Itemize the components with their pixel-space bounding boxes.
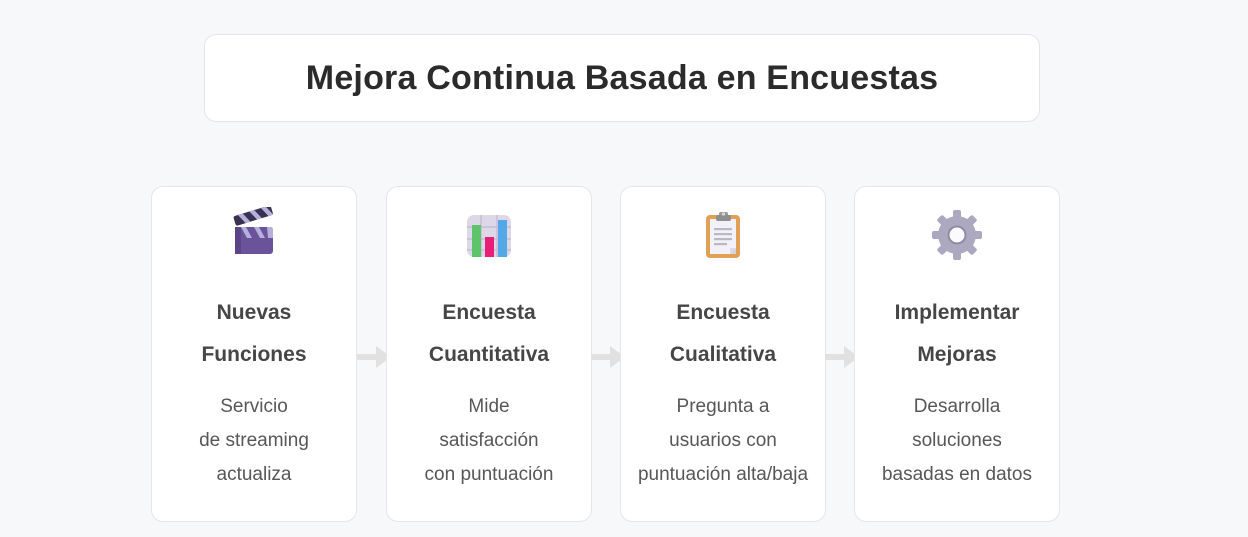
flow-step-title: Encuesta Cualitativa [608,292,838,376]
clipboard-icon [693,204,753,266]
flow-step-card-2[interactable]: Encuesta Cuantitativa Mide satisfacción … [386,186,592,522]
flow-step-card-3[interactable]: Encuesta Cualitativa Pregunta a usuarios… [620,186,826,522]
page-title: Mejora Continua Basada en Encuestas [306,59,938,98]
flow-step-card-4[interactable]: Implementar Mejoras Desarrolla solucione… [854,186,1060,522]
flow-step-title: Encuesta Cuantitativa [374,292,604,376]
process-flow: Nuevas Funciones Servicio de streaming a… [0,186,1248,526]
flow-step-description: Desarrolla soluciones basadas en datos [837,390,1077,492]
gear-icon [927,204,987,266]
clapperboard-icon [224,204,284,266]
flow-step-card-1[interactable]: Nuevas Funciones Servicio de streaming a… [151,186,357,522]
flow-step-title: Implementar Mejoras [842,292,1072,376]
flow-step-description: Pregunta a usuarios con puntuación alta/… [603,390,843,492]
bar-chart-icon [459,204,519,266]
flow-step-description: Servicio de streaming actualiza [134,390,374,492]
flow-diagram-page: Mejora Continua Basada en Encuestas [0,0,1248,537]
page-title-box: Mejora Continua Basada en Encuestas [204,34,1040,122]
flow-step-description: Mide satisfacción con puntuación [369,390,609,492]
flow-step-title: Nuevas Funciones [139,292,369,376]
